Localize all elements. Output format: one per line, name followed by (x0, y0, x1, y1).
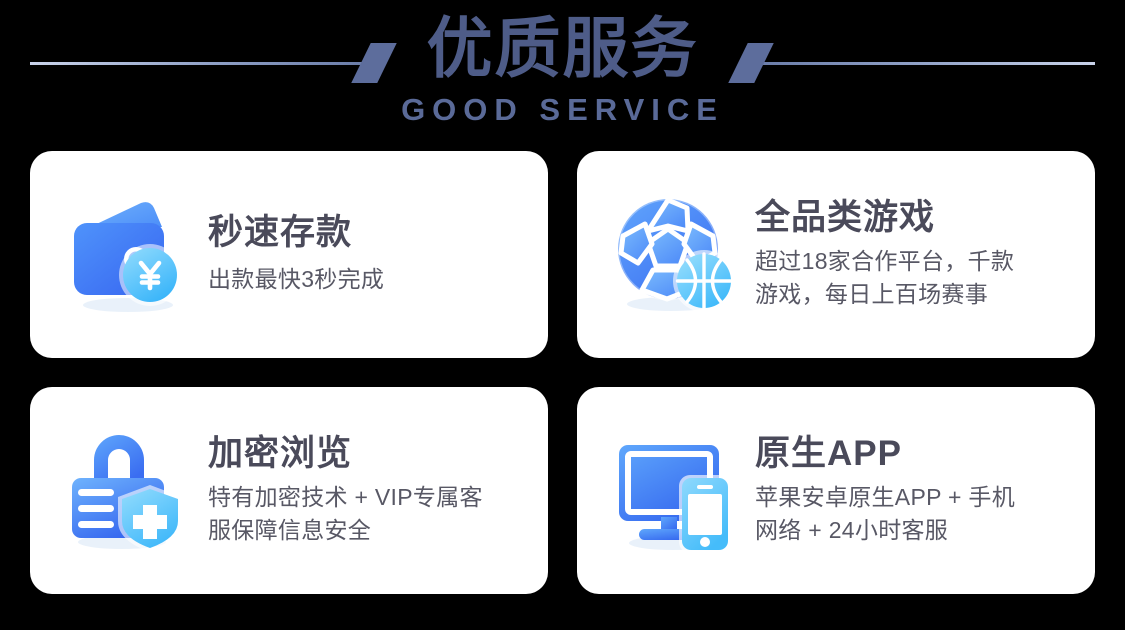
card-title: 原生APP (755, 434, 1075, 474)
card-description-line: 超过18家合作平台，千款 (755, 245, 1075, 278)
card-title: 全品类游戏 (755, 198, 1075, 238)
header-title-row: 优质服务 (0, 0, 1125, 96)
card-description-line: 特有加密技术 + VIP专属客 (208, 481, 528, 514)
monitor-phone-icon (609, 425, 741, 557)
card-description-line: 服保障信息安全 (208, 514, 528, 547)
card-description: 出款最快3秒完成 (208, 263, 528, 296)
lock-shield-icon (62, 425, 194, 557)
header: 优质服务 GOOD SERVICE (0, 0, 1125, 146)
decoration-line-left (30, 62, 362, 65)
card-title: 秒速存款 (208, 213, 528, 253)
wallet-yen-icon (62, 189, 194, 321)
card-text-block: 加密浏览 特有加密技术 + VIP专属客 服保障信息安全 (208, 434, 528, 547)
card-title: 加密浏览 (208, 434, 528, 474)
card-description: 超过18家合作平台，千款 游戏，每日上百场赛事 (755, 245, 1075, 310)
header-decoration-right (738, 48, 1095, 78)
card-description: 特有加密技术 + VIP专属客 服保障信息安全 (208, 481, 528, 546)
page-title: 优质服务 (401, 15, 725, 81)
feature-card-grid: 秒速存款 出款最快3秒完成 (30, 151, 1095, 601)
feature-card-encryption[interactable]: 加密浏览 特有加密技术 + VIP专属客 服保障信息安全 (30, 387, 548, 594)
decoration-line-right (763, 62, 1095, 65)
card-description: 苹果安卓原生APP + 手机 网络 + 24小时客服 (755, 481, 1075, 546)
card-description-line: 苹果安卓原生APP + 手机 (755, 481, 1075, 514)
feature-card-games[interactable]: 全品类游戏 超过18家合作平台，千款 游戏，每日上百场赛事 (577, 151, 1095, 358)
card-text-block: 原生APP 苹果安卓原生APP + 手机 网络 + 24小时客服 (755, 434, 1075, 547)
card-text-block: 秒速存款 出款最快3秒完成 (208, 213, 528, 296)
soccer-basketball-icon (609, 189, 741, 321)
promo-banner: 优质服务 GOOD SERVICE (0, 0, 1125, 630)
page-subtitle: GOOD SERVICE (401, 94, 724, 125)
card-description-line: 网络 + 24小时客服 (755, 514, 1075, 547)
feature-card-deposit[interactable]: 秒速存款 出款最快3秒完成 (30, 151, 548, 358)
header-decoration-left (30, 48, 387, 78)
card-text-block: 全品类游戏 超过18家合作平台，千款 游戏，每日上百场赛事 (755, 198, 1075, 311)
card-description-line: 出款最快3秒完成 (208, 263, 528, 296)
feature-card-native-app[interactable]: 原生APP 苹果安卓原生APP + 手机 网络 + 24小时客服 (577, 387, 1095, 594)
card-description-line: 游戏，每日上百场赛事 (755, 278, 1075, 311)
